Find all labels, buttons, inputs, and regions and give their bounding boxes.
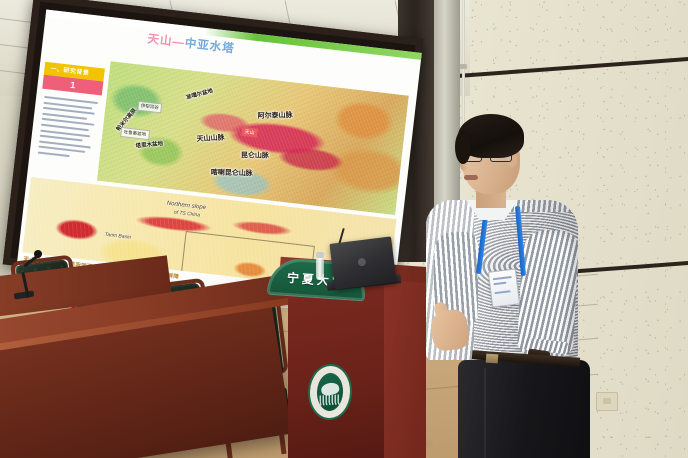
- presenter-laptop[interactable]: [329, 236, 396, 289]
- emblem-graphic: [316, 372, 344, 411]
- trouser-seam: [484, 368, 486, 458]
- pipe-clip: [460, 64, 467, 69]
- map-badge-tianshan: 天山: [241, 127, 258, 138]
- laptop-logo: [357, 258, 366, 267]
- belt-buckle: [486, 354, 499, 364]
- map-label-tianshan: 天山山脉: [196, 132, 225, 144]
- gooseneck-microphone[interactable]: [34, 250, 42, 258]
- map-label-altai: 阿尔泰山脉: [258, 110, 293, 121]
- water-bottle[interactable]: [316, 258, 324, 280]
- presenter-mouth: [464, 175, 478, 180]
- slide-section-banner-label: 一、研究背景: [50, 63, 90, 76]
- map-label-kunlun: 昆仑山脉: [241, 150, 269, 160]
- presenter-hand: [430, 308, 470, 352]
- podium: 宁夏大学: [288, 272, 424, 458]
- conference-room-scene: 天山—中亚水塔 一、研究背景 1: [0, 0, 688, 458]
- wall-outlet[interactable]: [596, 392, 618, 411]
- slide-body-text: [37, 96, 100, 164]
- presenter-trousers: [458, 360, 590, 458]
- presenter: [420, 112, 580, 458]
- map-label-karakoram: 喀喇昆仑山脉: [211, 167, 253, 178]
- conference-name-badge: [488, 268, 520, 307]
- presenter-hair: [458, 114, 524, 158]
- water-bottle-cap: [316, 252, 324, 258]
